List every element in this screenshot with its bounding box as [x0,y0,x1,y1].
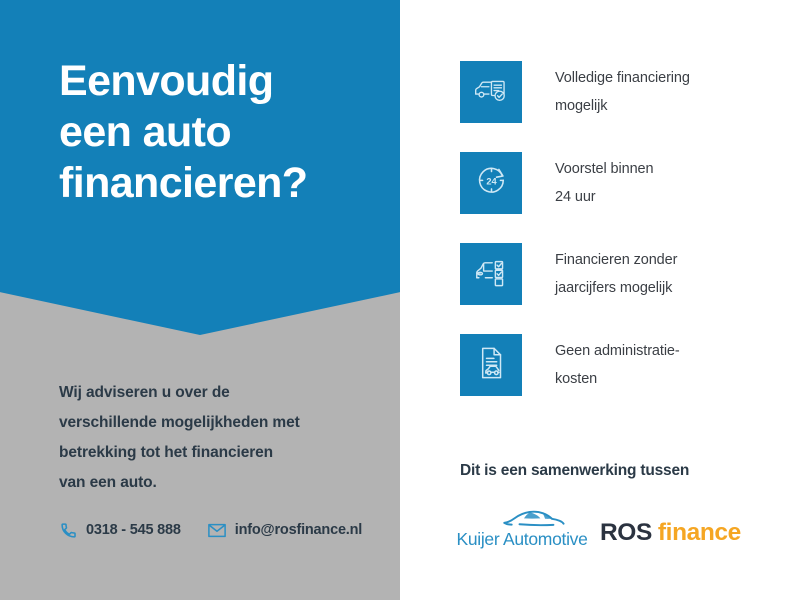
headline-line-2: een auto [59,107,389,158]
feature-tile-3 [460,243,522,305]
feature-1-line-2: mogelijk [555,92,785,120]
advice-line-4: van een auto. [59,468,369,498]
left-panel: Eenvoudig een auto financieren? Wij advi… [0,0,400,600]
feature-label-2: Voorstel binnen 24 uur [555,155,785,211]
kuijer-automotive-wordmark: Kuijer Automotive [452,529,592,550]
contact-row: 0318 - 545 888 info@rosfinance.nl [59,521,362,539]
feature-item-financieren-zonder-jaarcijfers: Financieren zonder jaarcijfers mogelijk [460,243,785,305]
headline-line-3: financieren? [59,158,389,209]
svg-text:24: 24 [486,177,497,187]
partnership-title: Dit is een samenwerking tussen [460,462,689,480]
headline-line-1: Eenvoudig [59,56,389,107]
right-panel: Volledige financiering mogelijk 24 [400,0,800,600]
phone-icon [59,521,77,539]
contact-phone[interactable]: 0318 - 545 888 [59,521,181,539]
advice-paragraph: Wij adviseren u over de verschillende mo… [59,378,369,498]
feature-item-voorstel-binnen-24-uur: 24 Voorstel binnen 24 uur [460,152,785,214]
feature-2-line-2: 24 uur [555,183,785,211]
page-title: Eenvoudig een auto financieren? [59,56,389,209]
feature-list: Volledige financiering mogelijk 24 [460,61,785,425]
feature-3-line-2: jaarcijfers mogelijk [555,274,785,302]
promo-banner: Eenvoudig een auto financieren? Wij advi… [0,0,800,600]
kuijer-automotive-logo[interactable]: Kuijer Automotive [452,507,592,555]
feature-4-line-2: kosten [555,365,785,393]
feature-label-1: Volledige financiering mogelijk [555,64,785,120]
ros-finance-logo[interactable]: ROSfinance [600,519,741,547]
feature-item-geen-administratiekosten: Geen administratie- kosten [460,334,785,396]
feature-item-volledige-financiering: Volledige financiering mogelijk [460,61,785,123]
feature-3-line-1: Financieren zonder [555,246,785,274]
document-car-icon [476,346,507,385]
feature-tile-2: 24 [460,152,522,214]
clock-24-hour-icon: 24 [475,164,508,202]
finance-wordmark: finance [658,519,741,546]
advice-line-1: Wij adviseren u over de [59,378,369,408]
feature-1-line-1: Volledige financiering [555,64,785,92]
feature-4-line-1: Geen administratie- [555,337,785,365]
ros-wordmark: ROS [600,519,652,546]
partner-logos: Kuijer Automotive ROSfinance [452,505,782,560]
contact-email[interactable]: info@rosfinance.nl [208,521,362,539]
feature-tile-1 [460,61,522,123]
car-document-check-icon [473,75,509,110]
envelope-icon [208,521,226,539]
phone-number: 0318 - 545 888 [86,522,181,538]
advice-line-2: verschillende mogelijkheden met [59,408,369,438]
car-checklist-icon [473,256,509,292]
feature-2-line-1: Voorstel binnen [555,155,785,183]
email-address: info@rosfinance.nl [235,522,362,538]
feature-label-3: Financieren zonder jaarcijfers mogelijk [555,246,785,302]
feature-tile-4 [460,334,522,396]
advice-line-3: betrekking tot het financieren [59,438,369,468]
feature-label-4: Geen administratie- kosten [555,337,785,393]
